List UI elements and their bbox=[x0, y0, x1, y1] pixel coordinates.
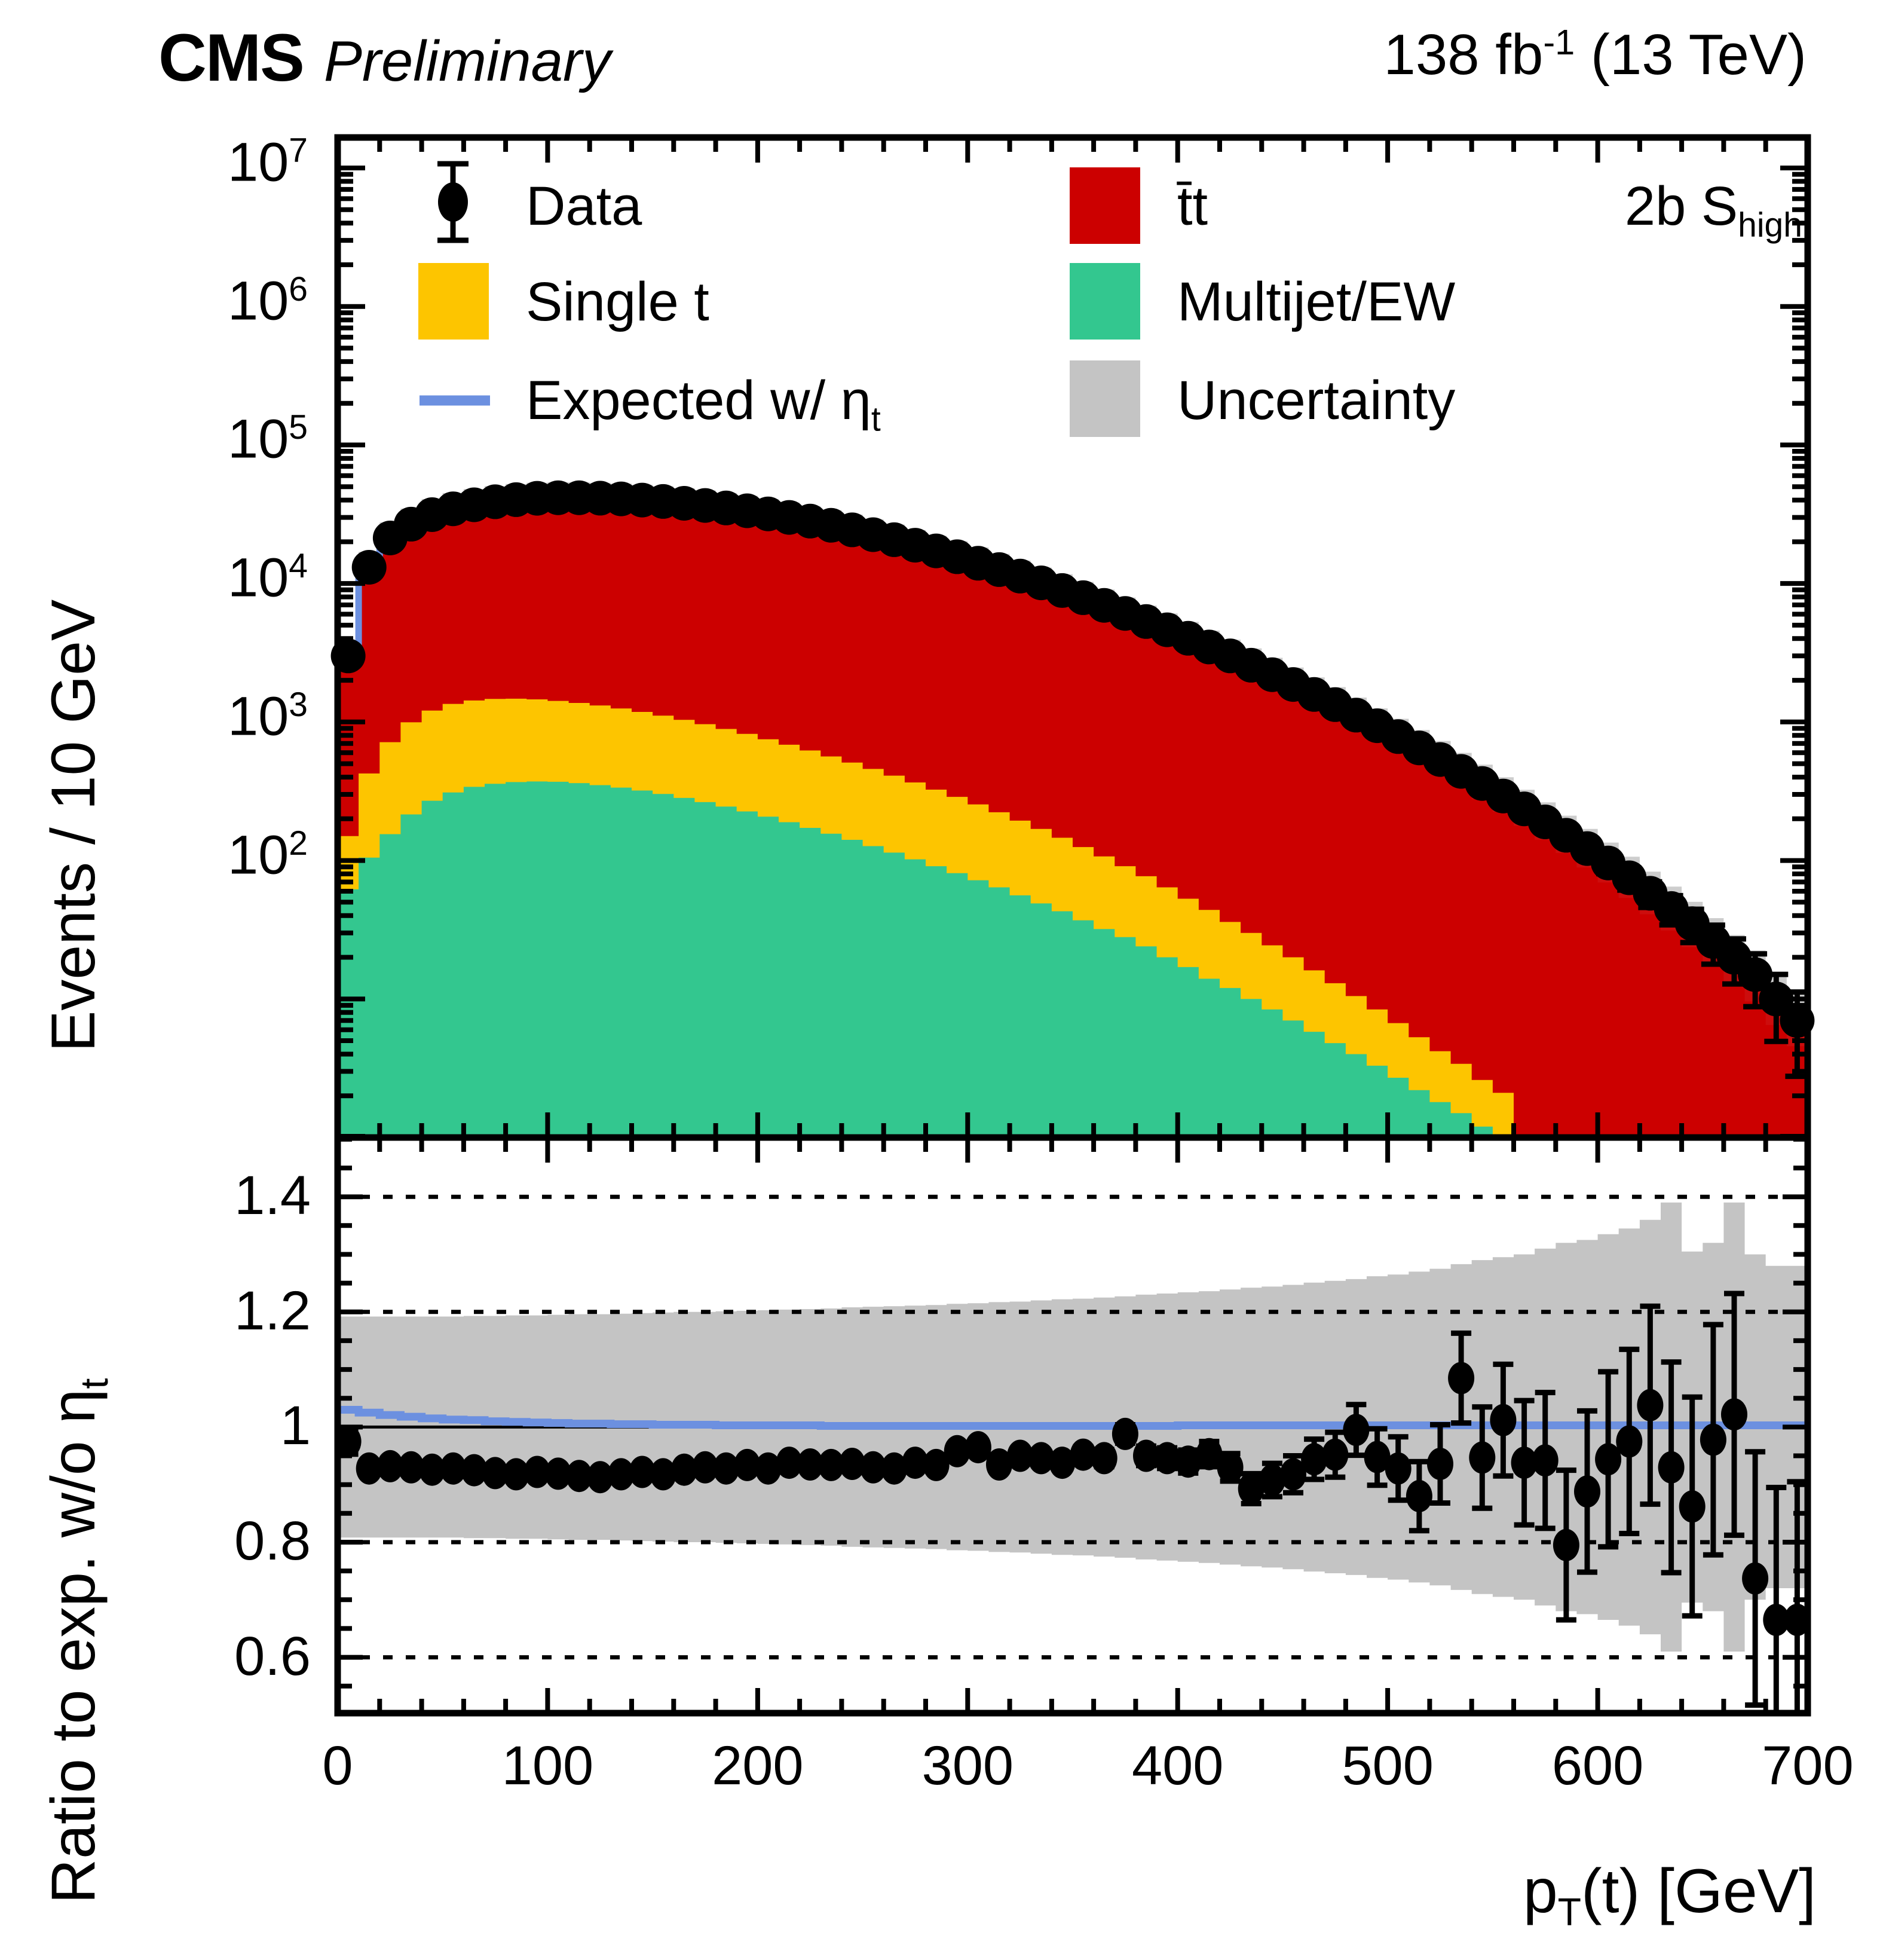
y-tick-label-ratio: 1 bbox=[0, 1395, 311, 1457]
legend-expected-text: Expected w/ bbox=[526, 370, 841, 431]
ratio-marker bbox=[1532, 1444, 1559, 1476]
legend-swatch-ttbar bbox=[1070, 167, 1140, 244]
legend-marker-data-point bbox=[438, 182, 468, 222]
ratio-marker bbox=[1385, 1453, 1412, 1485]
legend-swatch-uncertainty bbox=[1070, 360, 1140, 437]
x-tick-label: 600 bbox=[1508, 1735, 1688, 1797]
y-tick-label-main: 107 bbox=[0, 131, 308, 194]
legend-expected-eta-sub: t bbox=[871, 400, 881, 438]
ratio-marker bbox=[1427, 1448, 1453, 1480]
y-tick-label-main: 106 bbox=[0, 270, 308, 333]
ratio-marker bbox=[1469, 1441, 1495, 1473]
legend-swatch-multijet bbox=[1070, 263, 1140, 340]
y-tick-label-ratio: 1.4 bbox=[0, 1164, 311, 1227]
cms-plot-figure: CMSPreliminary 138 fb-1 (13 TeV) Events … bbox=[0, 0, 1883, 1960]
legend-label-uncertainty: Uncertainty bbox=[1177, 369, 1455, 432]
region-label-prefix: 2b S bbox=[1625, 176, 1738, 237]
y-tick-label-main: 103 bbox=[0, 685, 308, 748]
x-tick-label: 500 bbox=[1298, 1735, 1477, 1797]
ratio-marker bbox=[1448, 1362, 1474, 1395]
legend-label-ttbar: t̄t bbox=[1177, 175, 1208, 238]
y-tick-label-ratio: 0.8 bbox=[0, 1510, 311, 1573]
y-tick-label-main: 104 bbox=[0, 546, 308, 610]
y-tick-label-main: 105 bbox=[0, 408, 308, 471]
legend-label-single-t: Single t bbox=[526, 271, 709, 334]
ratio-marker bbox=[1091, 1442, 1117, 1474]
x-tick-label: 700 bbox=[1718, 1735, 1883, 1797]
ratio-marker bbox=[1490, 1404, 1516, 1436]
ratio-marker bbox=[1721, 1398, 1747, 1430]
y-tick-label-ratio: 1.2 bbox=[0, 1280, 311, 1343]
ratio-marker bbox=[1343, 1414, 1369, 1446]
ratio-marker bbox=[1658, 1451, 1685, 1484]
x-tick-label: 200 bbox=[668, 1735, 847, 1797]
ratio-marker bbox=[1742, 1563, 1768, 1595]
ratio-marker bbox=[1322, 1439, 1348, 1471]
x-tick-label: 400 bbox=[1088, 1735, 1267, 1797]
legend-expected-eta: η bbox=[841, 370, 871, 431]
region-label: 2b Shigh bbox=[1625, 175, 1802, 244]
ratio-marker bbox=[1637, 1389, 1663, 1421]
legend-label-multijet: Multijet/EW bbox=[1177, 271, 1455, 334]
ratio-marker bbox=[1700, 1424, 1726, 1456]
ratio-marker bbox=[1679, 1490, 1706, 1522]
x-tick-label: 100 bbox=[458, 1735, 637, 1797]
y-tick-label-main: 102 bbox=[0, 824, 308, 887]
region-label-sub: high bbox=[1738, 206, 1802, 244]
ratio-marker bbox=[1112, 1418, 1138, 1450]
legend-swatch-single-t bbox=[418, 263, 489, 340]
ratio-marker bbox=[1574, 1475, 1600, 1508]
x-tick-label: 300 bbox=[878, 1735, 1057, 1797]
legend-label-expected: Expected w/ ηt bbox=[526, 369, 881, 439]
x-tick-label: 0 bbox=[248, 1735, 427, 1797]
y-tick-label-ratio: 0.6 bbox=[0, 1625, 311, 1688]
ratio-marker bbox=[1406, 1480, 1432, 1512]
legend-label-data: Data bbox=[526, 175, 642, 238]
ratio-marker bbox=[1217, 1451, 1244, 1484]
ratio-marker bbox=[1553, 1529, 1579, 1561]
ratio-marker bbox=[1616, 1426, 1642, 1458]
data-marker bbox=[352, 550, 387, 585]
